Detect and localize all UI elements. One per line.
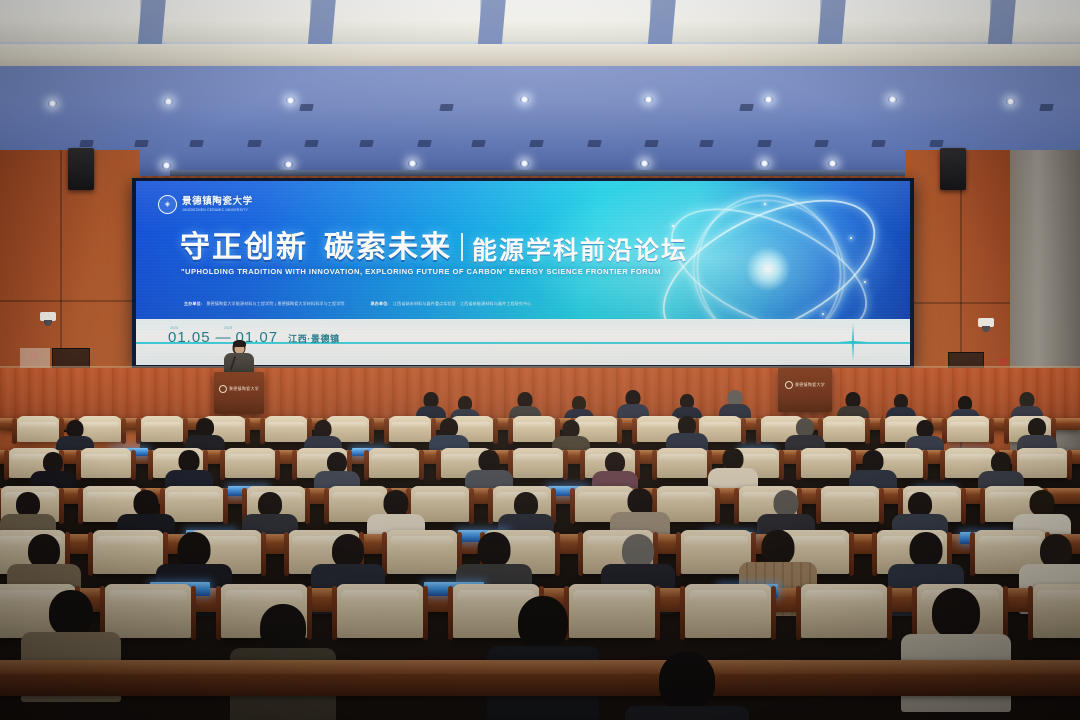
audience-chair xyxy=(164,486,224,522)
audience-chair xyxy=(386,530,458,574)
ceiling-vent xyxy=(814,140,828,147)
emergency-call-point-right-icon xyxy=(1000,358,1007,365)
ceiling-beam xyxy=(478,0,507,46)
audience-chair xyxy=(946,416,990,442)
ceiling-vent xyxy=(304,140,318,147)
ceiling-vent xyxy=(644,140,658,147)
ceiling-vent xyxy=(417,140,431,147)
audience-chair xyxy=(92,530,164,574)
attendee-head xyxy=(327,452,347,473)
audience-chair xyxy=(388,416,432,442)
audience-chair xyxy=(684,584,772,638)
attendee-head xyxy=(479,450,500,472)
podium-right-text: 景德镇陶瓷大学 xyxy=(795,382,825,388)
audience-chair xyxy=(224,448,276,478)
ceiling-vent xyxy=(529,140,543,147)
audience-chair xyxy=(1032,584,1080,638)
audience-chair xyxy=(264,416,308,442)
ceiling-beam xyxy=(818,0,847,46)
wall-seam xyxy=(905,302,1010,304)
attendee-head xyxy=(28,534,60,568)
ceiling-vent xyxy=(871,140,885,147)
ceiling-vent xyxy=(739,104,753,111)
ceiling-vent xyxy=(79,140,93,147)
ceiling-light-panel xyxy=(0,0,140,42)
ceiling-vent xyxy=(929,140,943,147)
attendee-head xyxy=(179,450,200,472)
audience-chair xyxy=(512,448,564,478)
attendee-head xyxy=(478,532,511,567)
ceiling-downlight xyxy=(888,96,897,103)
speaker-hair xyxy=(233,340,246,347)
dome-camera-left-icon xyxy=(40,312,56,321)
attendee-head xyxy=(774,490,799,516)
audience-chair xyxy=(336,584,424,638)
ceiling-downlight xyxy=(520,96,529,103)
attendee-body xyxy=(625,706,749,720)
led-screen: ◈ 景德镇陶瓷大学 JINGDEZHEN CERAMIC UNIVERSITY … xyxy=(136,181,910,365)
attendee-head xyxy=(863,450,884,472)
audience-chair xyxy=(800,448,852,478)
ceiling-vent xyxy=(699,140,713,147)
ceiling-downlight xyxy=(408,160,417,167)
podium-left-text: 景德镇陶瓷大学 xyxy=(229,386,259,392)
audience-chair xyxy=(104,584,192,638)
podium-right: 景德镇陶瓷大学 xyxy=(778,368,832,412)
ceiling-downlight xyxy=(284,161,293,168)
ceiling-downlight xyxy=(828,160,837,167)
audience-chair xyxy=(80,448,132,478)
ceiling-downlight xyxy=(1006,98,1015,105)
front-desk-edge xyxy=(0,660,1080,696)
attendee-head xyxy=(910,532,943,567)
dome-camera-right-icon xyxy=(978,318,994,327)
podium-left-plate: 景德镇陶瓷大学 xyxy=(219,385,259,393)
screen-vignette xyxy=(136,181,910,365)
wall-seam xyxy=(0,300,140,302)
attendee-head xyxy=(628,488,653,514)
podium-right-plate: 景德镇陶瓷大学 xyxy=(785,381,825,389)
ceiling-vent xyxy=(471,140,485,147)
ceiling-downlight xyxy=(162,162,171,169)
audience-chair xyxy=(656,448,708,478)
audience-chair xyxy=(368,448,420,478)
ceiling-light-panel xyxy=(840,0,990,42)
attendee-head xyxy=(991,452,1011,473)
ceiling-vent xyxy=(439,104,453,111)
conference-hall-photo: ◈ 景德镇陶瓷大学 JINGDEZHEN CERAMIC UNIVERSITY … xyxy=(0,0,1080,720)
ceiling-beam xyxy=(648,0,677,46)
ceiling-vent xyxy=(134,140,148,147)
ceiling-vent xyxy=(1039,104,1053,111)
ceiling-vent xyxy=(587,140,601,147)
attendee-head xyxy=(605,452,625,473)
ceiling-downlight xyxy=(520,160,529,167)
attendee-head xyxy=(932,588,980,638)
audience-chair xyxy=(16,416,60,442)
ceiling-downlight xyxy=(640,160,649,167)
ceiling-downlight xyxy=(164,98,173,105)
ceiling-downlight xyxy=(286,97,295,104)
ceiling-light-panel xyxy=(500,0,650,42)
attendee-head xyxy=(1030,490,1055,516)
audience-chair xyxy=(822,416,866,442)
audience-chair xyxy=(800,584,888,638)
ceiling-downlight xyxy=(764,96,773,103)
ceiling-vent xyxy=(189,140,203,147)
university-crest-icon xyxy=(219,385,227,393)
ceiling-beam xyxy=(988,0,1017,46)
attendee-head xyxy=(260,604,306,652)
ceiling-beam xyxy=(308,0,337,46)
desk-surface xyxy=(0,660,1080,674)
ceiling-beam xyxy=(138,0,167,46)
ceiling-downlight xyxy=(760,160,769,167)
attendee-head xyxy=(332,534,364,568)
podium-left: 景德镇陶瓷大学 xyxy=(214,372,264,414)
ceiling-downlight xyxy=(48,100,57,107)
ceiling-vent xyxy=(247,140,261,147)
attendee-foreground xyxy=(642,652,732,720)
attendee-head xyxy=(49,590,93,636)
attendee-head xyxy=(134,490,159,516)
attendee-head xyxy=(518,596,568,650)
ceiling-light-panel xyxy=(670,0,820,42)
attendee-head xyxy=(659,652,715,710)
ceiling-light-panel xyxy=(160,0,310,42)
audience-chair xyxy=(140,416,184,442)
ceiling-light-panel xyxy=(330,0,480,42)
audience-chair xyxy=(512,416,556,442)
audience-chair xyxy=(820,486,880,522)
attendee-head xyxy=(723,448,744,470)
ceiling-vent xyxy=(299,104,313,111)
attendee-head xyxy=(384,490,409,516)
attendee-head xyxy=(178,532,211,567)
ceiling-vent xyxy=(359,140,373,147)
ceiling-downlight xyxy=(644,96,653,103)
attendee-head xyxy=(762,530,795,565)
wall-speaker-left xyxy=(68,148,94,190)
attendee-head xyxy=(43,452,63,473)
ceiling-light-panel xyxy=(1010,0,1080,42)
attendee-head xyxy=(1040,534,1072,568)
university-crest-icon xyxy=(785,381,793,389)
wall-speaker-right xyxy=(940,148,966,190)
ceiling-vent xyxy=(757,140,771,147)
audience-chair xyxy=(1016,448,1068,478)
attendee-head xyxy=(622,534,654,568)
